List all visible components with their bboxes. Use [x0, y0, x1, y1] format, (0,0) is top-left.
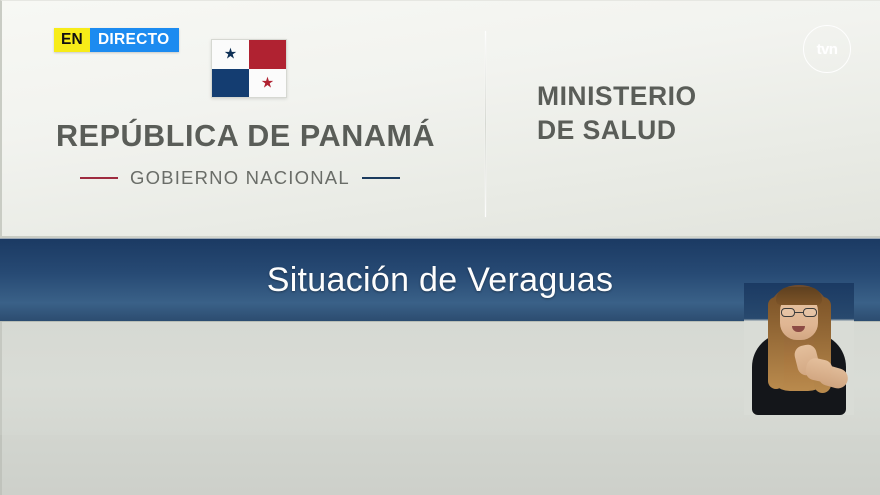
header-divider [485, 31, 486, 217]
ticker-zone: tvn-2.com 6:33 PM DEPORTES • Con Claudio… [0, 435, 880, 495]
glasses-icon [780, 308, 818, 317]
flag-star-blue: ★ [224, 47, 237, 62]
decorative-dash-blue [362, 177, 400, 180]
decorative-dash-red [80, 177, 118, 180]
flag-quadrant-top-left: ★ [212, 40, 249, 69]
live-badge-prefix: EN [54, 28, 90, 52]
banner-title: Situación de Veraguas [267, 261, 614, 300]
flag-star-red: ★ [261, 75, 274, 90]
flag-quadrant-top-right [249, 40, 286, 69]
republic-title: REPÚBLICA DE PANAMÁ [56, 119, 446, 154]
ministry-line-2: DE SALUD [537, 113, 697, 147]
panama-flag-icon: ★ ★ [211, 39, 287, 98]
flag-quadrant-bottom-right: ★ [249, 69, 286, 98]
live-badge: EN DIRECTO [54, 28, 179, 52]
flag-quadrant-bottom-left [212, 69, 249, 98]
government-subtitle-row: GOBIERNO NACIONAL [80, 167, 425, 189]
broadcast-screen: EN DIRECTO ★ ★ REPÚBLICA DE PANAMÁ GOBIE… [0, 0, 880, 495]
broadcast-header: EN DIRECTO ★ ★ REPÚBLICA DE PANAMÁ GOBIE… [0, 0, 880, 238]
government-subtitle: GOBIERNO NACIONAL [130, 167, 350, 189]
live-badge-label: DIRECTO [90, 28, 179, 52]
ministry-title: MINISTERIO DE SALUD [537, 79, 697, 148]
tvn-logo-icon: tvn [803, 25, 851, 73]
sign-language-interpreter [744, 283, 854, 415]
interpreter-fringe [776, 287, 822, 305]
ministry-line-1: MINISTERIO [537, 79, 697, 113]
